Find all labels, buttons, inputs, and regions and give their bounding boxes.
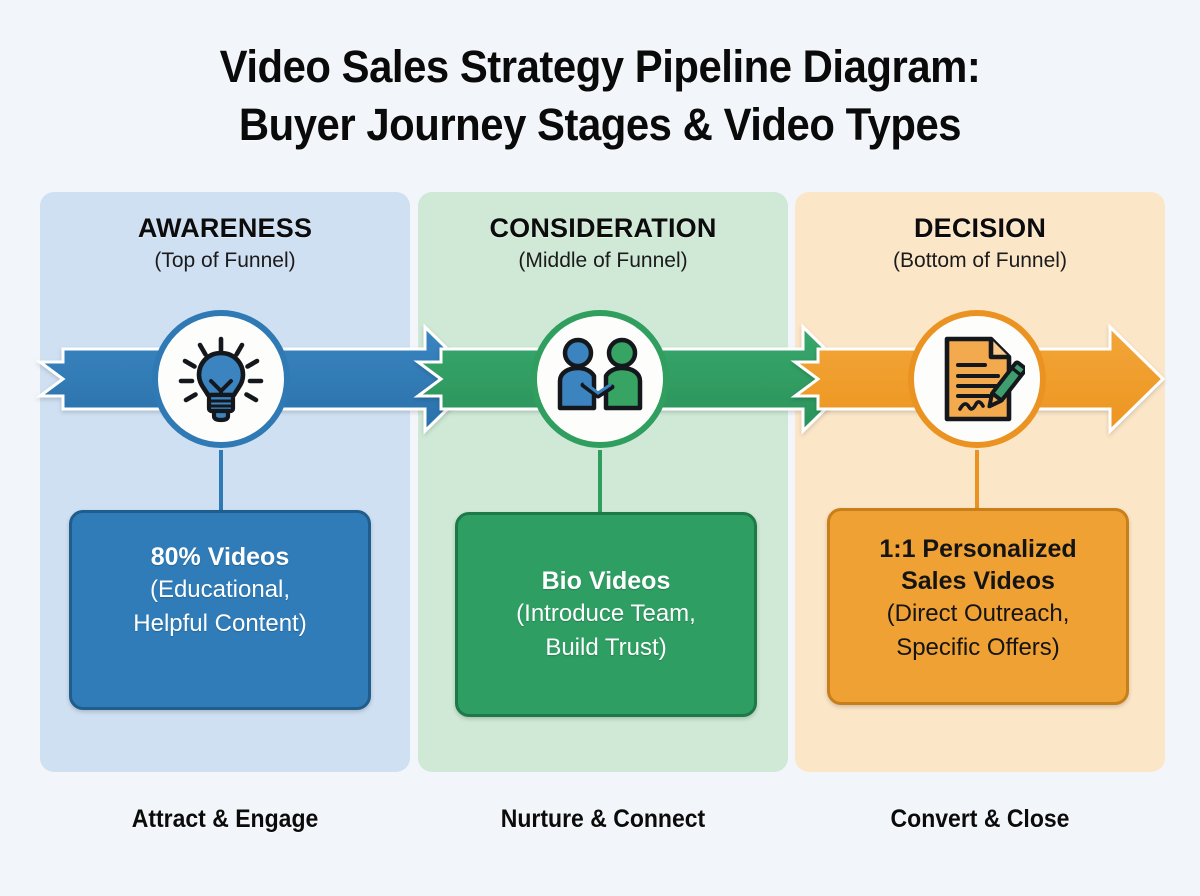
stage-caption-decision: Convert & Close [810, 805, 1150, 834]
stage-caption-consideration: Nurture & Connect [433, 805, 773, 834]
icon-badge-awareness[interactable] [152, 310, 290, 448]
video-type-card-decision[interactable]: 1:1 Personalized Sales Videos (Direct Ou… [827, 508, 1129, 705]
connector-consideration [598, 450, 602, 512]
card-title-awareness: 80% Videos [72, 541, 368, 573]
video-type-card-consideration[interactable]: Bio Videos (Introduce Team, Build Trust) [455, 512, 757, 717]
card-title-consideration: Bio Videos [458, 565, 754, 597]
icon-badge-consideration[interactable] [531, 310, 669, 448]
card-detail-consideration-line-2: Build Trust) [458, 631, 754, 665]
card-detail-awareness-line-2: Helpful Content) [72, 607, 368, 641]
card-detail-awareness-line-1: (Educational, [72, 573, 368, 607]
diagram-canvas: Video Sales Strategy Pipeline Diagram: B… [0, 0, 1200, 896]
icon-badge-decision[interactable] [908, 310, 1046, 448]
connector-decision [975, 450, 979, 512]
signed-document-pen-icon [929, 331, 1025, 427]
lightbulb-icon [173, 331, 269, 427]
handshake-icon [550, 333, 650, 425]
connector-awareness [219, 450, 223, 512]
video-type-card-awareness[interactable]: 80% Videos (Educational, Helpful Content… [69, 510, 371, 710]
card-detail-decision-line-1: (Direct Outreach, [830, 597, 1126, 631]
pipeline-flow-arrows [0, 0, 1200, 896]
card-title-decision-line-1: 1:1 Personalized [830, 533, 1126, 565]
card-title-decision-line-2: Sales Videos [830, 565, 1126, 597]
card-detail-consideration-line-1: (Introduce Team, [458, 597, 754, 631]
card-detail-decision-line-2: Specific Offers) [830, 631, 1126, 665]
stage-caption-awareness: Attract & Engage [55, 805, 395, 834]
